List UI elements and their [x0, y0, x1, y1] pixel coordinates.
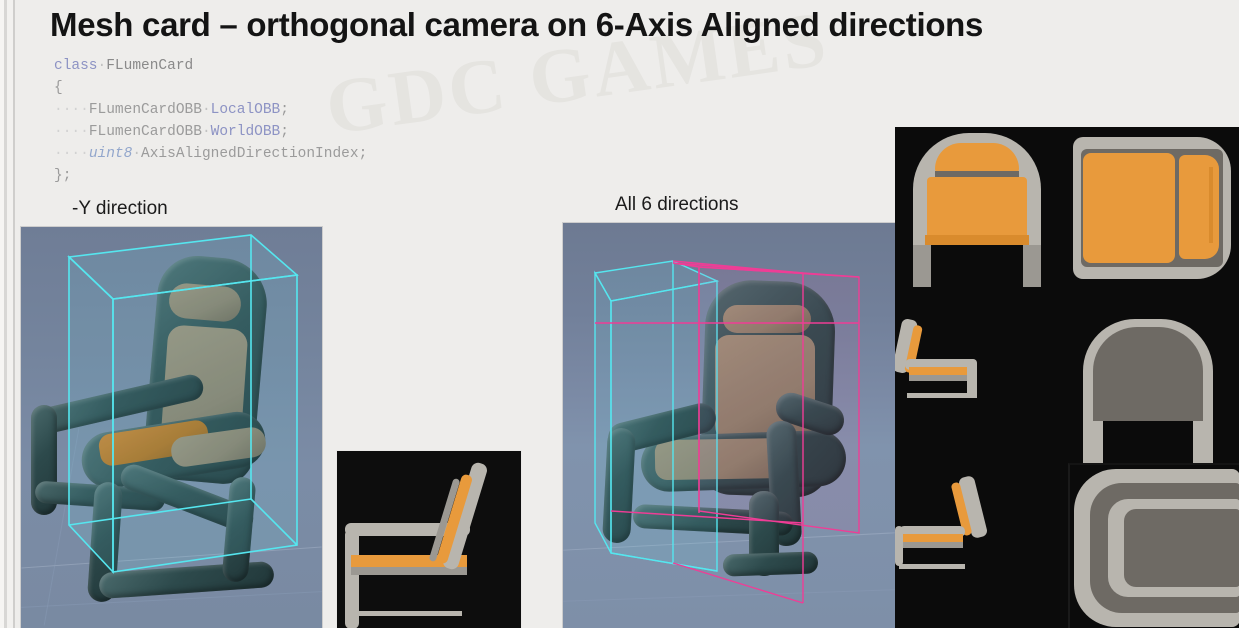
card-back-slab — [1179, 155, 1219, 259]
card-inner-core — [1124, 509, 1239, 587]
code-token: uint8 — [89, 146, 133, 162]
card-front-edge — [967, 359, 977, 397]
card-silhouette-base — [357, 611, 462, 616]
card-direction-side-a[interactable] — [895, 317, 1067, 472]
code-token: FLumenCardOBB — [89, 102, 202, 118]
code-token: { — [54, 80, 63, 96]
code-line-1: class·FLumenCard — [54, 55, 367, 77]
card-headrest — [935, 143, 1019, 173]
card-seat-edge — [925, 235, 1029, 245]
card-back-panel — [1093, 327, 1203, 425]
code-line-4: ····FLumenCardOBB·WorldOBB; — [54, 121, 367, 143]
card-left-leg — [1083, 421, 1103, 469]
code-token: ···· — [54, 146, 89, 162]
code-line-5: ····uint8·AxisAlignedDirectionIndex; — [54, 143, 367, 165]
code-token: FLumenCardOBB — [89, 124, 202, 140]
code-token: FLumenCard — [106, 58, 193, 74]
card-back-seam — [1209, 167, 1213, 243]
code-token: AxisAlignedDirectionIndex — [141, 146, 359, 162]
card-right-leg — [1023, 245, 1041, 287]
code-token: · — [132, 146, 141, 162]
card-direction-side-b[interactable] — [895, 472, 1067, 628]
slide-root: GDC GAMES Mesh card – orthogonal camera … — [0, 0, 1239, 628]
card-right-leg — [1193, 421, 1213, 469]
code-block: class·FLumenCard{····FLumenCardOBB·Local… — [54, 55, 367, 187]
code-token: LocalOBB — [211, 102, 281, 118]
code-token: · — [202, 102, 211, 118]
code-token: class — [54, 58, 98, 74]
card-direction-front[interactable] — [895, 127, 1067, 317]
card-backpad — [927, 177, 1027, 239]
caption-left: -Y direction — [72, 198, 168, 220]
card-front-edge — [895, 526, 903, 566]
card-left-leg — [913, 245, 931, 287]
card-base — [899, 564, 965, 569]
card-under-seat — [1103, 421, 1193, 469]
caption-right: All 6 directions — [615, 194, 739, 216]
card-preview-minus-y[interactable] — [336, 450, 522, 628]
card-seat-shadow — [909, 375, 975, 381]
page-title: Mesh card – orthogonal camera on 6-Axis … — [50, 6, 983, 44]
viewport-minus-y[interactable] — [20, 226, 323, 628]
code-token: }; — [54, 168, 71, 184]
capture-edge-4 — [13, 0, 15, 628]
code-token: ; — [280, 124, 289, 140]
code-line-3: ····FLumenCardOBB·LocalOBB; — [54, 99, 367, 121]
card-seat-slab — [1083, 153, 1175, 263]
card-direction-back[interactable] — [1067, 317, 1239, 472]
bounding-box-cyan — [21, 227, 322, 628]
code-line-2: { — [54, 77, 367, 99]
card-seat-shadow — [901, 542, 963, 548]
bounding-box-multi — [563, 223, 895, 628]
code-token: ; — [280, 102, 289, 118]
card-direction-bottom-overlay[interactable] — [1068, 463, 1239, 628]
code-token: ···· — [54, 124, 89, 140]
code-token: · — [98, 58, 107, 74]
viewport-all-directions[interactable] — [562, 222, 896, 628]
code-token: ···· — [54, 102, 89, 118]
code-line-6: }; — [54, 165, 367, 187]
card-direction-top[interactable] — [1067, 127, 1239, 317]
card-under-seat — [931, 245, 1023, 287]
card-base — [907, 393, 977, 398]
code-token: · — [202, 124, 211, 140]
code-token: WorldOBB — [211, 124, 281, 140]
code-token: ; — [359, 146, 368, 162]
